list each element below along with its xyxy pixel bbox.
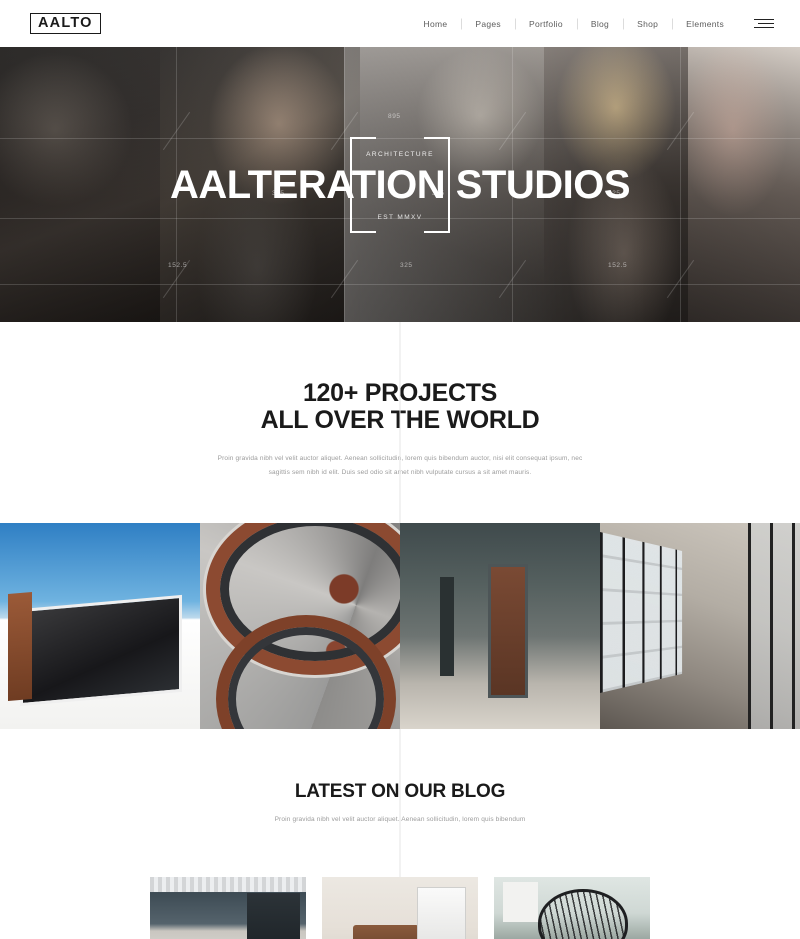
portfolio-grid bbox=[0, 523, 800, 729]
main-navigation: Home Pages Portfolio Blog Shop Elements bbox=[410, 19, 775, 29]
hero-title: AALTERATION STUDIOS bbox=[0, 165, 800, 205]
site-logo[interactable]: AALTO bbox=[30, 13, 101, 35]
nav-item-elements[interactable]: Elements bbox=[672, 19, 738, 29]
site-header: AALTO Home Pages Portfolio Blog Shop Ele… bbox=[0, 0, 800, 47]
frame-corner-top-left bbox=[350, 137, 376, 163]
blog-post-list bbox=[0, 877, 800, 939]
hamburger-line bbox=[754, 27, 774, 28]
page-root: AALTO Home Pages Portfolio Blog Shop Ele… bbox=[0, 0, 800, 939]
nav-item-home[interactable]: Home bbox=[410, 19, 462, 29]
hamburger-icon[interactable] bbox=[754, 19, 774, 28]
hero-eyebrow: ARCHITECTURE bbox=[350, 151, 450, 158]
hamburger-line bbox=[754, 19, 774, 20]
frame-corner-top-right bbox=[424, 137, 450, 163]
blog-post-thumbnail-3[interactable] bbox=[494, 877, 650, 939]
blog-section: LATEST ON OUR BLOG Proin gravida nibh ve… bbox=[0, 729, 800, 939]
portfolio-item-4[interactable] bbox=[600, 523, 800, 729]
portfolio-item-1[interactable] bbox=[0, 523, 200, 729]
intro-section: 120+ PROJECTS ALL OVER THE WORLD Proin g… bbox=[0, 322, 800, 523]
portfolio-item-2[interactable] bbox=[200, 523, 400, 729]
center-divider-line bbox=[400, 322, 401, 523]
nav-item-shop[interactable]: Shop bbox=[623, 19, 672, 29]
hero-established: EST MMXV bbox=[350, 214, 450, 221]
hero-section: 895 325 325 325 152.5 325 152.5 ARCHITEC… bbox=[0, 47, 800, 322]
nav-item-blog[interactable]: Blog bbox=[577, 19, 623, 29]
portfolio-item-3[interactable] bbox=[400, 523, 600, 729]
nav-item-pages[interactable]: Pages bbox=[461, 19, 515, 29]
hamburger-line bbox=[758, 23, 774, 24]
nav-item-portfolio[interactable]: Portfolio bbox=[515, 19, 577, 29]
blog-post-thumbnail-2[interactable] bbox=[322, 877, 478, 939]
blog-post-thumbnail-1[interactable] bbox=[150, 877, 306, 939]
